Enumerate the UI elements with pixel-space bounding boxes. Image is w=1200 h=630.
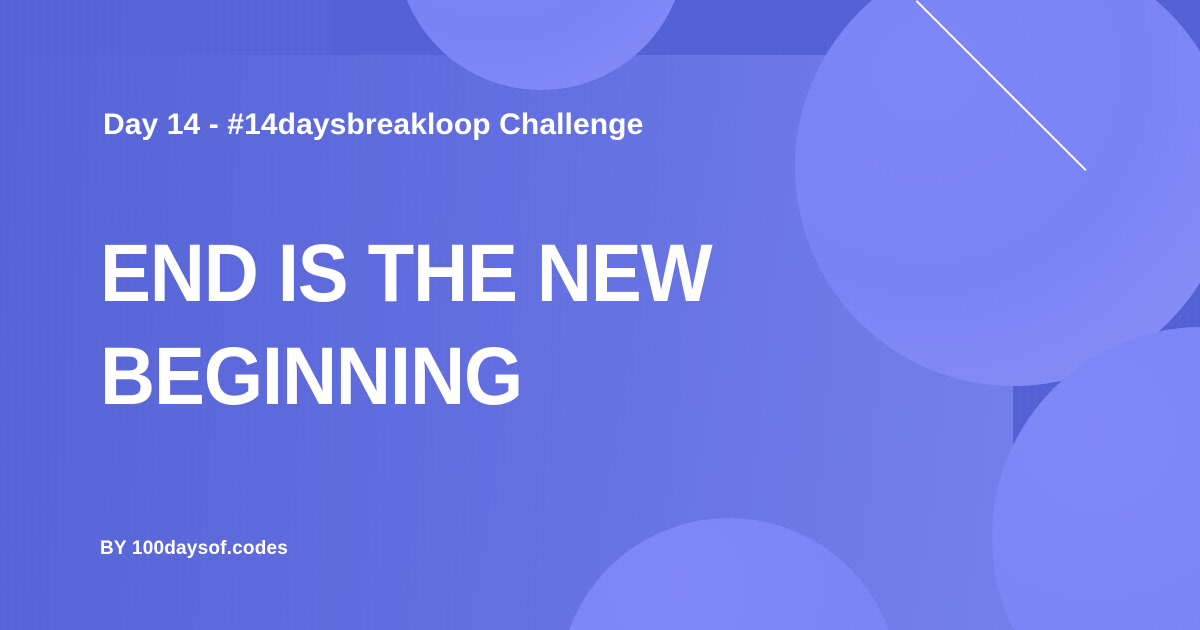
author-byline: BY 100daysof.codes	[100, 538, 288, 560]
page-title: END IS THE NEW BEGINNING	[100, 222, 751, 428]
challenge-eyebrow: Day 14 - #14daysbreakloop Challenge	[103, 108, 643, 142]
poster-canvas: Day 14 - #14daysbreakloop Challenge END …	[0, 0, 1200, 630]
poster-content: Day 14 - #14daysbreakloop Challenge END …	[0, 0, 1200, 630]
